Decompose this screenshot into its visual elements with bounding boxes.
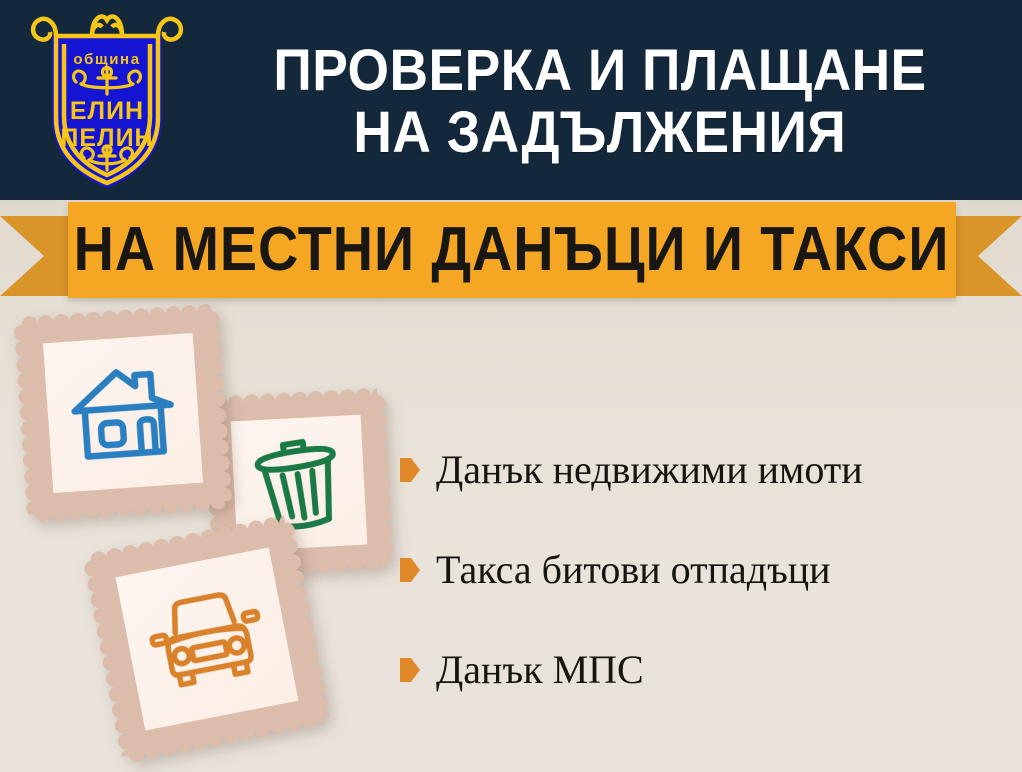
header-bar: община ЕЛИН ПЕЛИН	[0, 0, 1022, 200]
arrow-bullet-icon	[400, 658, 420, 682]
coat-of-arms-logo: община ЕЛИН ПЕЛИН	[24, 6, 190, 194]
tax-types-list: Данък недвижими имоти Такса битови отпад…	[400, 420, 1010, 720]
list-item: Данък МПС	[400, 620, 1010, 720]
trash-bin-icon	[251, 433, 348, 534]
stamp-card-vehicle	[91, 523, 323, 755]
list-item: Такса битови отпадъци	[400, 520, 1010, 620]
stamp-card-property	[22, 312, 225, 515]
list-item-label: Данък недвижими имоти	[436, 448, 863, 492]
stamp-paper	[43, 333, 203, 493]
logo-name-line-1: ЕЛИН	[70, 97, 144, 125]
scallop-edge-right	[370, 395, 395, 562]
logo-top-word: община	[73, 51, 140, 68]
scallop-edge-left	[14, 324, 43, 515]
page-title: ПРОВЕРКА И ПЛАЩАНЕ НА ЗАДЪЛЖЕНИЯ	[192, 14, 1008, 190]
scallop-edge-bottom	[34, 493, 225, 522]
ribbon-label: НА МЕСТНИ ДАНЪЦИ И ТАКСИ	[74, 219, 950, 281]
scallop-edge-top	[211, 388, 378, 413]
list-item: Данък недвижими имоти	[400, 420, 1010, 520]
subtitle-ribbon: НА МЕСТНИ ДАНЪЦИ И ТАКСИ	[0, 200, 1022, 306]
list-item-label: Такса битови отпадъци	[436, 548, 831, 592]
stamp-paper	[116, 548, 299, 731]
arrow-bullet-icon	[400, 558, 420, 582]
scallop-edge-top	[21, 304, 212, 333]
poster-canvas: община ЕЛИН ПЕЛИН	[0, 0, 1022, 772]
house-icon	[66, 360, 181, 465]
title-line-1: ПРОВЕРКА И ПЛАЩАНЕ	[273, 40, 926, 102]
list-item-label: Данък МПС	[436, 648, 644, 692]
ribbon-banner: НА МЕСТНИ ДАНЪЦИ И ТАКСИ	[68, 202, 956, 298]
car-front-icon	[141, 581, 273, 697]
title-line-2: НА ЗАДЪЛЖЕНИЯ	[354, 102, 847, 164]
arrow-bullet-icon	[400, 458, 420, 482]
